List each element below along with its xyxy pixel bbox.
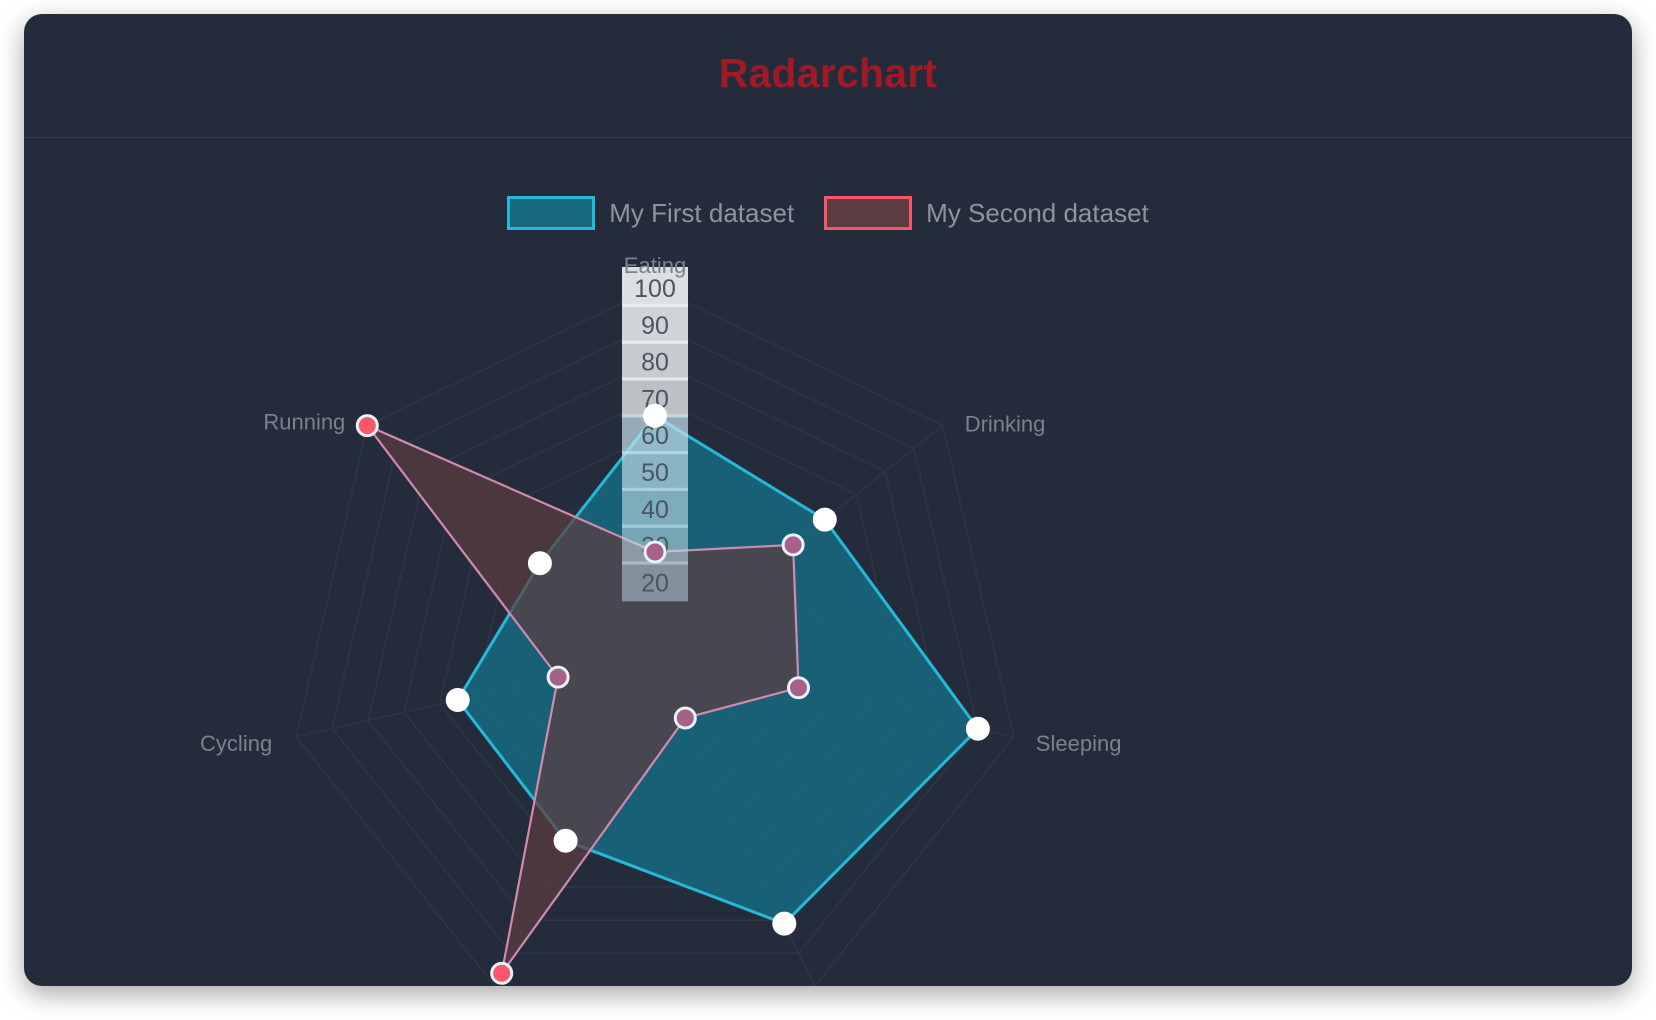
radar-point-eating-first[interactable]	[644, 405, 666, 427]
card-header: Radarchart	[24, 14, 1632, 138]
radar-point-sleeping-first[interactable]	[967, 718, 989, 740]
radar-point-cycling-first[interactable]	[447, 689, 469, 711]
radar-point-designing-first[interactable]	[773, 913, 795, 935]
legend-item-second[interactable]: My Second dataset	[824, 196, 1149, 230]
axis-label-running: Running	[263, 410, 345, 435]
radar-tick-label: 20	[641, 569, 669, 597]
radar-point-drinking-second[interactable]	[783, 535, 803, 555]
radar-point-drinking-first[interactable]	[814, 509, 836, 531]
legend-label-second: My Second dataset	[926, 198, 1149, 229]
chart-card: Radarchart My First dataset My Second da…	[24, 14, 1632, 986]
axis-label-cycling: Cycling	[200, 731, 272, 756]
legend-label-first: My First dataset	[609, 198, 794, 229]
radar-point-coding-first[interactable]	[555, 830, 577, 852]
radar-tick-label: 80	[641, 349, 669, 377]
radar-tick-label: 90	[641, 312, 669, 340]
chart-area: My First dataset My Second dataset 10090…	[24, 138, 1632, 986]
radar-point-coding-second[interactable]	[492, 963, 512, 983]
radar-point-sleeping-second[interactable]	[789, 678, 809, 698]
radar-tick-label: 50	[641, 459, 669, 487]
radar-tick-label: 40	[641, 496, 669, 524]
legend-swatch-second	[824, 196, 912, 230]
radar-chart-svg: 1009080706050403020EatingDrinkingSleepin…	[24, 138, 1632, 986]
page-title: Radarchart	[24, 50, 1632, 97]
radar-point-running-first[interactable]	[529, 552, 551, 574]
page-root: Radarchart My First dataset My Second da…	[0, 0, 1656, 1020]
radar-point-designing-second[interactable]	[675, 708, 695, 728]
radar-point-eating-second[interactable]	[645, 542, 665, 562]
radar-point-running-second[interactable]	[357, 416, 377, 436]
axis-label-sleeping: Sleeping	[1036, 731, 1122, 756]
axis-label-eating: Eating	[624, 253, 686, 278]
radar-point-cycling-second[interactable]	[548, 667, 568, 687]
legend-item-first[interactable]: My First dataset	[507, 196, 794, 230]
legend-swatch-first	[507, 196, 595, 230]
chart-legend: My First dataset My Second dataset	[24, 196, 1632, 230]
radar-tick-label: 100	[634, 275, 676, 303]
axis-label-drinking: Drinking	[965, 412, 1046, 437]
